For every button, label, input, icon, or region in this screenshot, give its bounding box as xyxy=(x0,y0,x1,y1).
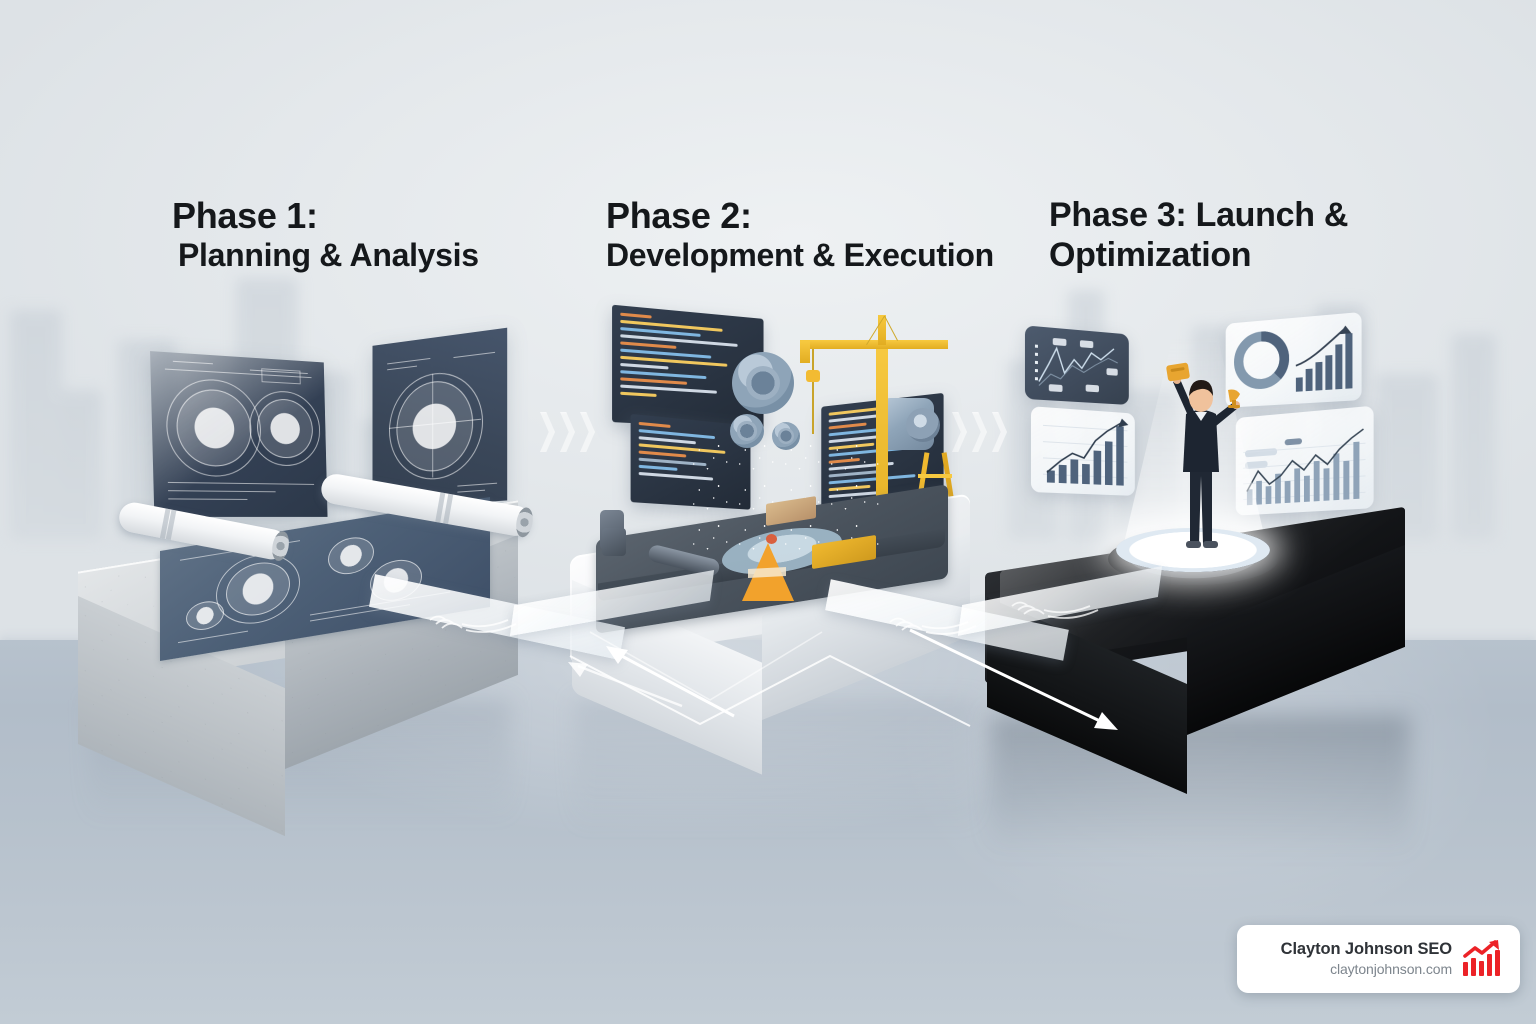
phase-1-number: Phase 1: xyxy=(172,195,318,236)
line-chart-icon xyxy=(1025,325,1129,405)
gear-medium-icon xyxy=(730,414,764,448)
celebrating-person-icon xyxy=(1158,358,1244,558)
gear-small-icon xyxy=(772,422,800,450)
phase-1-name: Planning & Analysis xyxy=(172,237,602,275)
donut-chart-card xyxy=(1226,312,1362,408)
phase-2-title: Phase 2: Development & Execution xyxy=(606,195,1026,275)
connector-chevrons-1-2 xyxy=(540,412,595,452)
crane-counter-jib xyxy=(800,341,810,363)
survey-marker-icon xyxy=(766,534,777,544)
phase-2-name: Development & Execution xyxy=(606,237,1026,275)
crane-jib xyxy=(800,340,948,349)
connector-chevrons-2-3 xyxy=(952,412,1007,452)
chevron-right-icon xyxy=(992,412,1007,452)
crane-hook-line xyxy=(812,382,814,434)
phase-2-number: Phase 2: xyxy=(606,195,752,236)
watermark-text: Clayton Johnson SEO claytonjohnson.com xyxy=(1255,940,1462,978)
chevron-right-icon xyxy=(540,412,555,452)
donut-and-bar-icon xyxy=(1226,312,1362,408)
chevron-right-icon xyxy=(560,412,575,452)
turbine-hub xyxy=(906,408,940,442)
barrel-icon xyxy=(602,528,626,556)
mixed-chart-card xyxy=(1236,406,1374,516)
crane-hook-block xyxy=(806,370,820,382)
blueprint-panel-right xyxy=(373,328,508,510)
blueprint-panel-left xyxy=(150,351,327,517)
phase-1-title: Phase 1: Planning & Analysis xyxy=(172,195,602,275)
brand-name: Clayton Johnson SEO xyxy=(1281,940,1452,959)
bar-chart-icon xyxy=(1031,406,1135,496)
mixed-chart-icon xyxy=(1236,406,1374,516)
gear-large-icon xyxy=(732,352,794,414)
crane-cable-front xyxy=(884,316,898,341)
phase-3-title: Phase 3: Launch & Optimization xyxy=(1049,195,1394,275)
line-chart-card xyxy=(1025,325,1129,405)
growth-bar-chart-arrow-icon xyxy=(1462,940,1504,978)
watermark-badge[interactable]: Clayton Johnson SEO claytonjohnson.com xyxy=(1237,925,1520,993)
brand-website[interactable]: claytonjohnson.com xyxy=(1330,961,1452,978)
chevron-right-icon xyxy=(972,412,987,452)
chevron-right-icon xyxy=(952,412,967,452)
phase-3-number: Phase 3: xyxy=(1049,196,1186,234)
bar-chart-card xyxy=(1031,406,1135,496)
infographic-canvas: Phase 1: Planning & Analysis Phase 2: De… xyxy=(0,0,1536,1024)
chevron-right-icon xyxy=(580,412,595,452)
